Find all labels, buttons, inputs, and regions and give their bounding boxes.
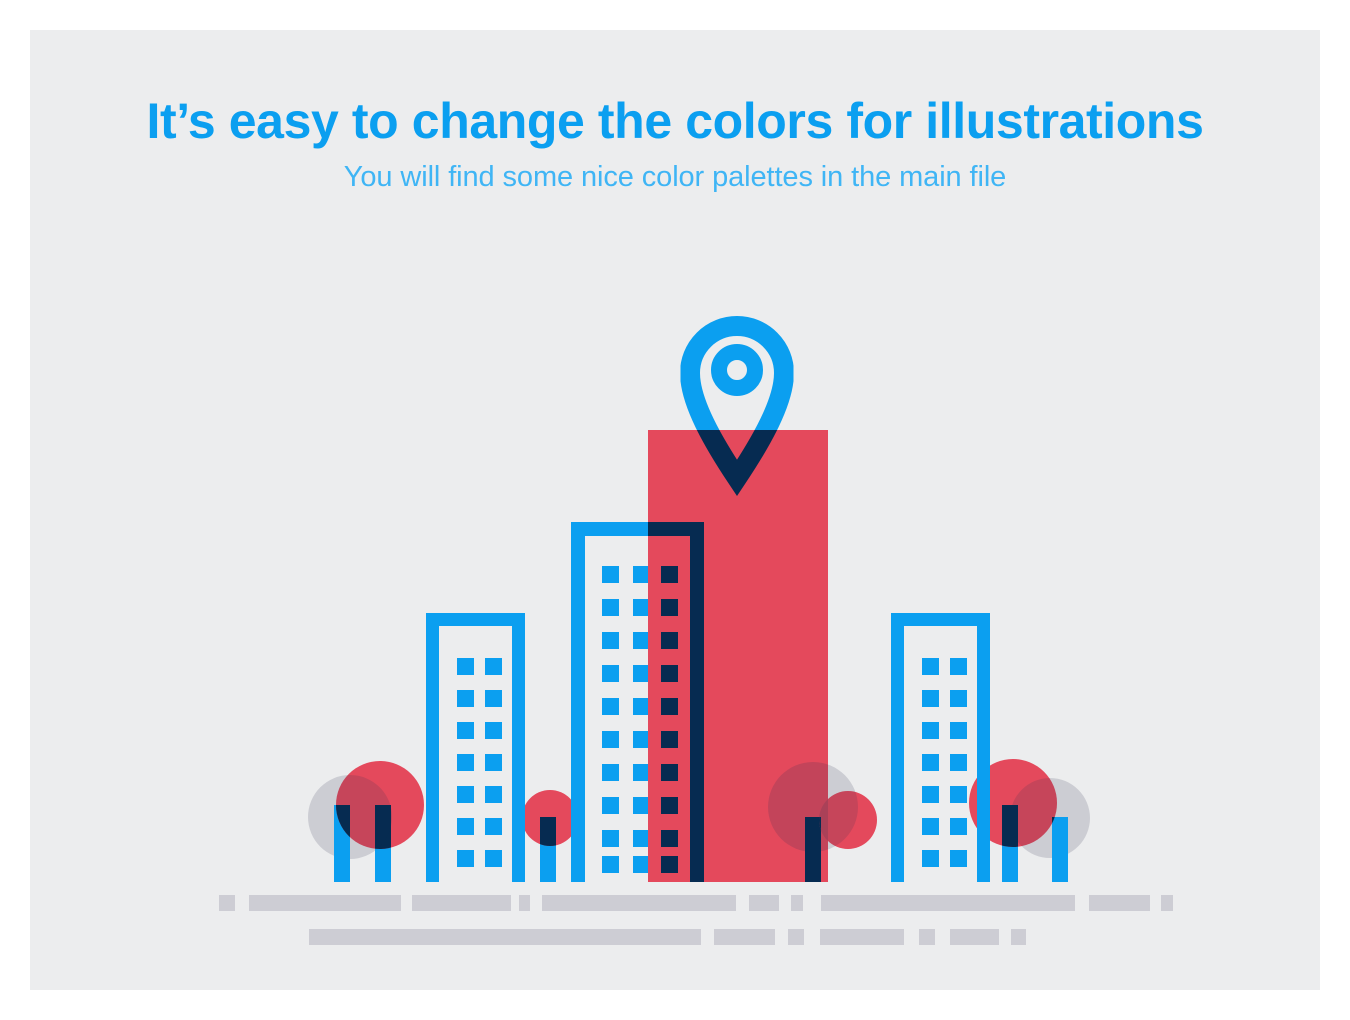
building-right	[891, 613, 990, 882]
pin-inner-ring	[719, 352, 755, 388]
building-left	[426, 613, 525, 882]
ground-row-top	[219, 895, 1173, 911]
screenshot-root: It’s easy to change the colors for illus…	[0, 0, 1350, 1020]
illustration-canvas: It’s easy to change the colors for illus…	[30, 30, 1320, 990]
building-right-windows	[922, 658, 967, 867]
tree-6-trunk	[1052, 817, 1068, 882]
building-left-windows	[457, 658, 502, 867]
ground-row-bottom	[309, 929, 1026, 945]
city-illustration	[30, 30, 1320, 990]
